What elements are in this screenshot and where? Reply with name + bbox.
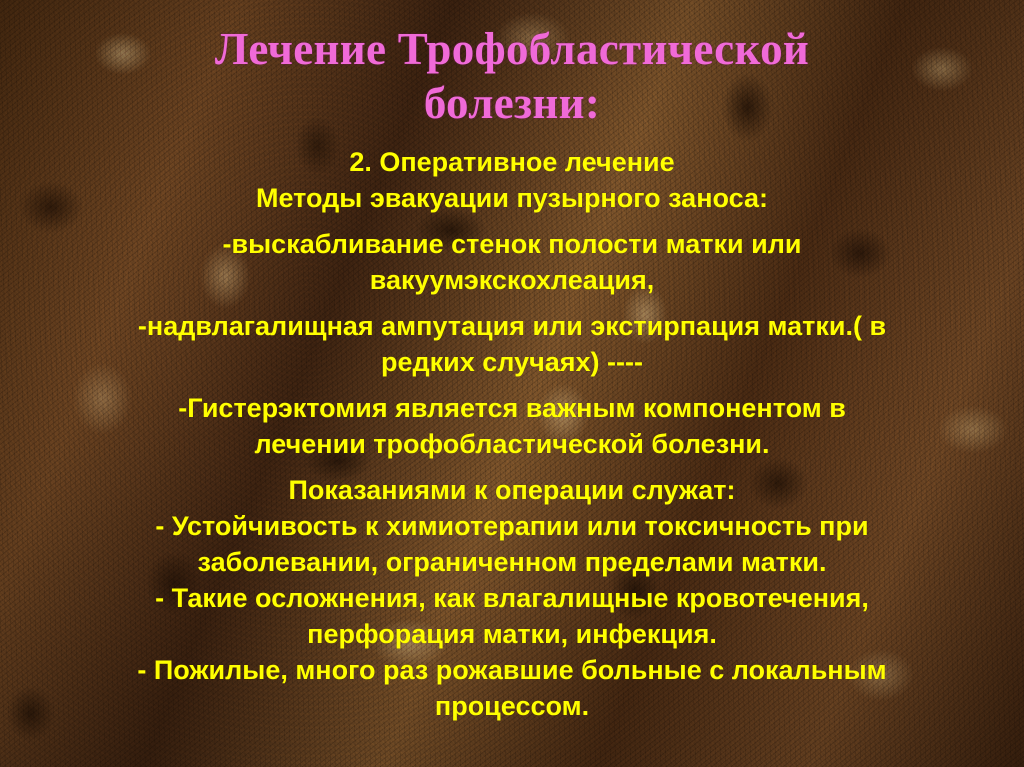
body-line: -выскабливание стенок полости матки или <box>0 226 1024 262</box>
slide-title: Лечение Трофобластической болезни: <box>0 0 1024 130</box>
body-line: - Пожилые, много раз рожавшие больные с … <box>0 652 1024 688</box>
block-evacuation-methods: -выскабливание стенок полости матки или … <box>0 226 1024 298</box>
block-amputation-extirpation: -надвлагалищная ампутация или экстирпаци… <box>0 308 1024 380</box>
block-indications: Показаниями к операции служат: - Устойчи… <box>0 472 1024 724</box>
body-line: -Гистерэктомия является важным компонент… <box>0 390 1024 426</box>
body-line: перфорация матки, инфекция. <box>0 616 1024 652</box>
body-line: - Устойчивость к химиотерапии или токсич… <box>0 508 1024 544</box>
spacer <box>0 380 1024 390</box>
body-line: редких случаях) ---- <box>0 344 1024 380</box>
spacer <box>0 462 1024 472</box>
slide-title-line-2: болезни: <box>424 78 600 128</box>
presentation-slide: Лечение Трофобластической болезни: 2. Оп… <box>0 0 1024 767</box>
spacer <box>0 298 1024 308</box>
slide-title-line-1: Лечение Трофобластической <box>215 24 809 74</box>
body-line: 2. Оперативное лечение <box>0 144 1024 180</box>
body-line: Методы эвакуации пузырного заноса: <box>0 180 1024 216</box>
body-line: Показаниями к операции служат: <box>0 472 1024 508</box>
body-line: заболевании, ограниченном пределами матк… <box>0 544 1024 580</box>
block-operative-treatment-heading: 2. Оперативное лечение Методы эвакуации … <box>0 144 1024 216</box>
body-line: вакуумэкскохлеация, <box>0 262 1024 298</box>
spacer <box>0 216 1024 226</box>
body-line: -надвлагалищная ампутация или экстирпаци… <box>0 308 1024 344</box>
body-line: лечении трофобластической болезни. <box>0 426 1024 462</box>
body-line: процессом. <box>0 688 1024 724</box>
block-hysterectomy-note: -Гистерэктомия является важным компонент… <box>0 390 1024 462</box>
slide-content: Лечение Трофобластической болезни: 2. Оп… <box>0 0 1024 767</box>
body-line: - Такие осложнения, как влагалищные кров… <box>0 580 1024 616</box>
